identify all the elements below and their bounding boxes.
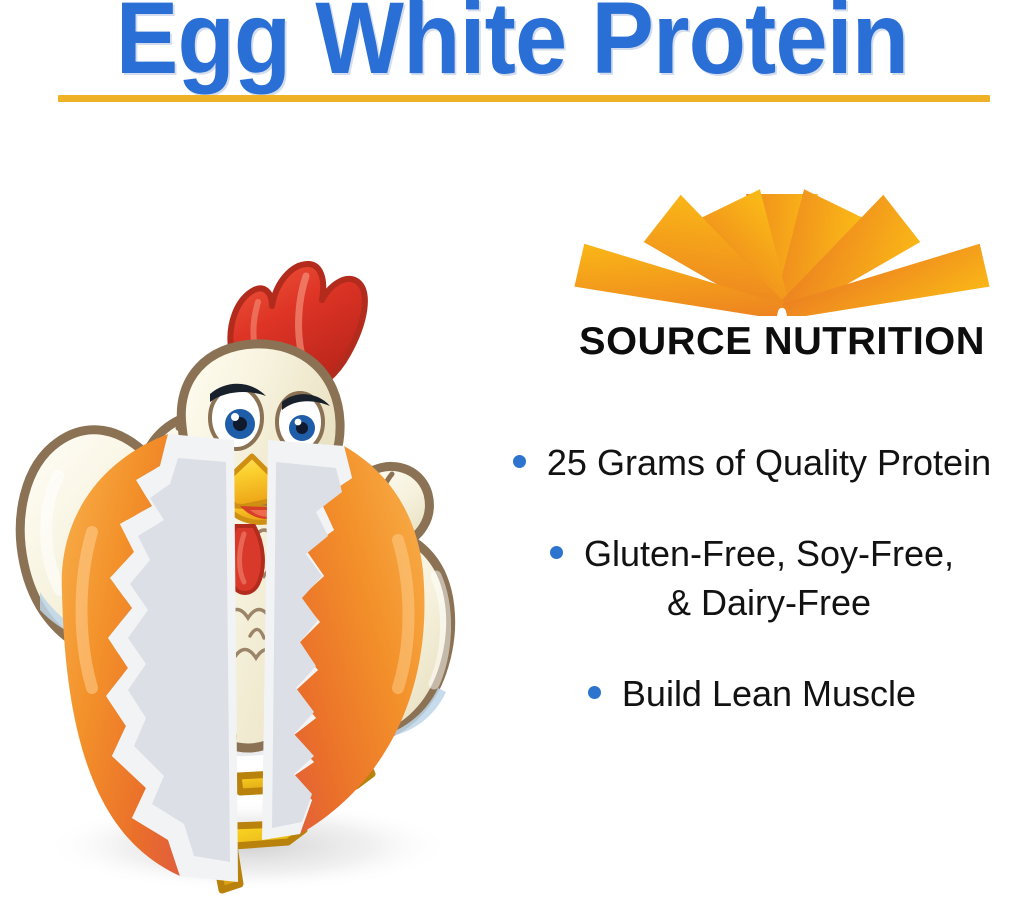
benefit-line: Build Lean Muscle: [622, 669, 916, 718]
benefit-item: Gluten-Free, Soy-Free, & Dairy-Free: [480, 529, 1024, 627]
brand-block: SOURCE NUTRITION: [548, 188, 1016, 364]
benefit-line: Gluten-Free, Soy-Free,: [584, 529, 954, 578]
benefit-text: Build Lean Muscle: [622, 669, 916, 718]
benefits-list: 25 Grams of Quality Protein Gluten-Free,…: [480, 438, 1024, 718]
page-title: Egg White Protein: [41, 0, 983, 92]
benefit-line: & Dairy-Free: [584, 578, 954, 627]
benefit-item: 25 Grams of Quality Protein: [480, 438, 1024, 487]
benefit-line: 25 Grams of Quality Protein: [547, 438, 991, 487]
benefit-text: 25 Grams of Quality Protein: [547, 438, 991, 487]
flexing-chicken-in-cracked-egg-icon: [0, 140, 500, 902]
bullet-dot-icon: [588, 686, 601, 699]
bullet-dot-icon: [550, 546, 563, 559]
title-underline-rule: [58, 95, 990, 102]
brand-name: SOURCE NUTRITION: [543, 320, 1020, 364]
title-block: Egg White Protein: [0, 0, 1024, 112]
benefit-item: Build Lean Muscle: [480, 669, 1024, 718]
bullet-dot-icon: [513, 455, 526, 468]
product-marketing-image: Egg White Protein: [0, 0, 1024, 902]
sunburst-icon: [572, 188, 992, 316]
benefit-text: Gluten-Free, Soy-Free, & Dairy-Free: [584, 529, 954, 627]
